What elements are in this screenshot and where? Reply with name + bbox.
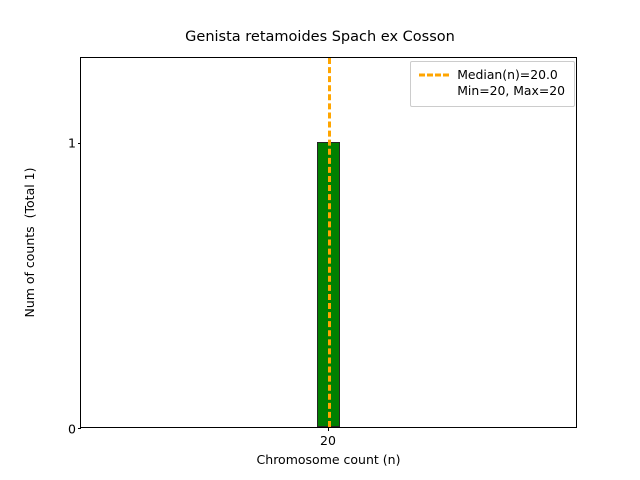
legend: Median(n)=20.0 Min=20, Max=20 (410, 61, 575, 107)
y-tick-label-0: 0 (68, 422, 76, 437)
median-line (328, 58, 331, 427)
x-tick-mark-20 (328, 427, 329, 431)
y-tick-label-1: 1 (68, 136, 76, 151)
legend-label-range: Min=20, Max=20 (457, 83, 565, 99)
legend-entry-texts: Median(n)=20.0 Min=20, Max=20 (457, 67, 565, 100)
y-tick-mark-0 (78, 428, 82, 429)
dashed-line-icon (419, 67, 449, 83)
x-axis-label: Chromosome count (n) (80, 452, 577, 467)
legend-entry-median: Median(n)=20.0 Min=20, Max=20 (419, 67, 565, 100)
legend-label-median: Median(n)=20.0 (457, 67, 565, 83)
chart-title: Genista retamoides Spach ex Cosson (0, 29, 640, 45)
chart-figure: Genista retamoides Spach ex Cosson Num o… (0, 0, 640, 480)
y-tick-mark-1 (78, 143, 82, 144)
plot-area: 0 1 20 Median(n)=20.0 Min=20, Max=20 (80, 57, 577, 428)
x-tick-label-20: 20 (320, 433, 336, 448)
y-axis-label: Num of counts (Total 1) (22, 57, 40, 428)
